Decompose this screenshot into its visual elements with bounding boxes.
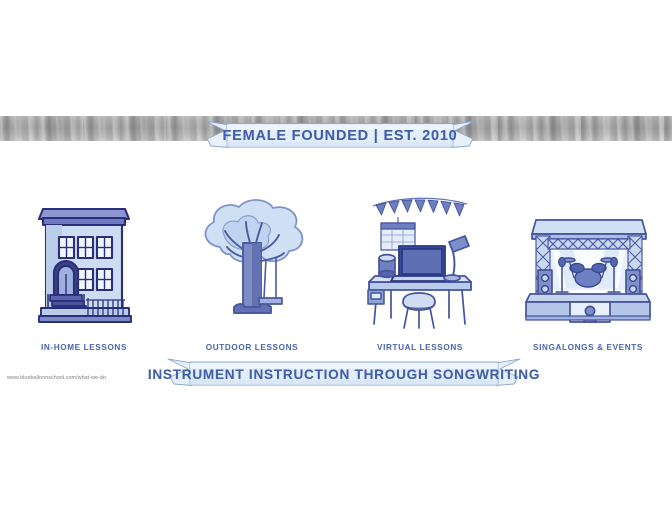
ribbon-top-text: FEMALE FOUNDED | EST. 2010	[205, 118, 475, 154]
service-label-virtual-lessons: VIRTUAL LESSONS	[336, 343, 504, 352]
service-item-singalongs-events[interactable]: SINGALONGS & EVENTS	[504, 165, 672, 330]
ribbon-banner-top: FEMALE FOUNDED | EST. 2010	[205, 118, 475, 154]
service-label-in-home-lessons: IN-HOME LESSONS	[0, 343, 168, 352]
service-item-virtual-lessons[interactable]: VIRTUAL LESSONS	[336, 165, 504, 330]
service-item-outdoor-lessons[interactable]: OUTDOOR LESSONS	[168, 165, 336, 330]
ribbon-bottom-text: INSTRUMENT INSTRUCTION THROUGH SONGWRITI…	[168, 357, 520, 391]
ribbon-banner-bottom: INSTRUMENT INSTRUCTION THROUGH SONGWRITI…	[168, 357, 520, 391]
source-url-text: www.blueballoonschool.com/what-we-do	[7, 375, 106, 381]
service-label-outdoor-lessons: OUTDOOR LESSONS	[168, 343, 336, 352]
tree-with-swing-icon	[194, 185, 310, 330]
service-icon-row: IN-HOME LESSONS	[0, 165, 672, 330]
service-item-in-home-lessons[interactable]: IN-HOME LESSONS	[0, 165, 168, 330]
desk-laptop-icon	[361, 185, 479, 330]
poster-canvas: FEMALE FOUNDED | EST. 2010	[0, 0, 672, 510]
rowhouse-icon	[32, 185, 136, 330]
concert-stage-icon	[522, 185, 654, 330]
service-label-singalongs-events: SINGALONGS & EVENTS	[504, 343, 672, 352]
